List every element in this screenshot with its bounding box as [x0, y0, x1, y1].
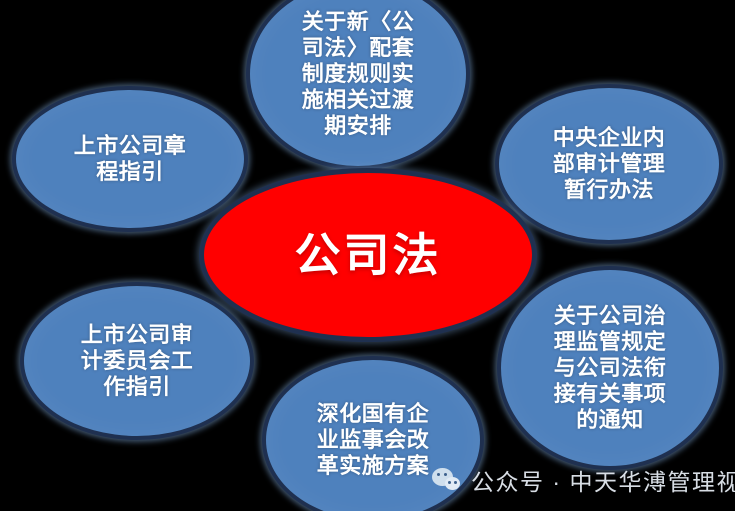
watermark: 公众号 · 中天华溥管理视野	[432, 463, 735, 497]
diagram-node-top-left[interactable]: 上市公司章 程指引	[12, 86, 248, 232]
node-label: 深化国有企 业监事会改 革实施方案	[311, 401, 436, 479]
diagram-node-bottom-right[interactable]: 关于公司治 理监管规定 与公司法衔 接有关事项 的通知	[497, 266, 723, 470]
diagram-node-bottom-left[interactable]: 上市公司审 计委员会工 作指引	[20, 282, 254, 440]
wechat-icon	[432, 467, 462, 493]
diagram-node-top-center[interactable]: 关于新〈公 司法〉配套 制度规则实 施相关过渡 期安排	[246, 0, 470, 170]
node-label: 关于公司治 理监管规定 与公司法衔 接有关事项 的通知	[548, 303, 673, 433]
node-label: 上市公司章 程指引	[68, 133, 193, 185]
diagram-core-node[interactable]: 公司法	[199, 168, 537, 342]
node-label: 中央企业内 部审计管理 暂行办法	[547, 125, 672, 203]
node-label: 关于新〈公 司法〉配套 制度规则实 施相关过渡 期安排	[296, 9, 421, 139]
diagram-canvas: 关于新〈公 司法〉配套 制度规则实 施相关过渡 期安排 上市公司章 程指引 中央…	[0, 0, 735, 511]
watermark-text: 公众号 · 中天华溥管理视野	[471, 463, 735, 497]
node-label: 上市公司审 计委员会工 作指引	[75, 322, 200, 400]
core-node-label: 公司法	[289, 228, 448, 282]
wechat-bubble-small	[445, 477, 460, 490]
diagram-node-top-right[interactable]: 中央企业内 部审计管理 暂行办法	[495, 84, 723, 244]
